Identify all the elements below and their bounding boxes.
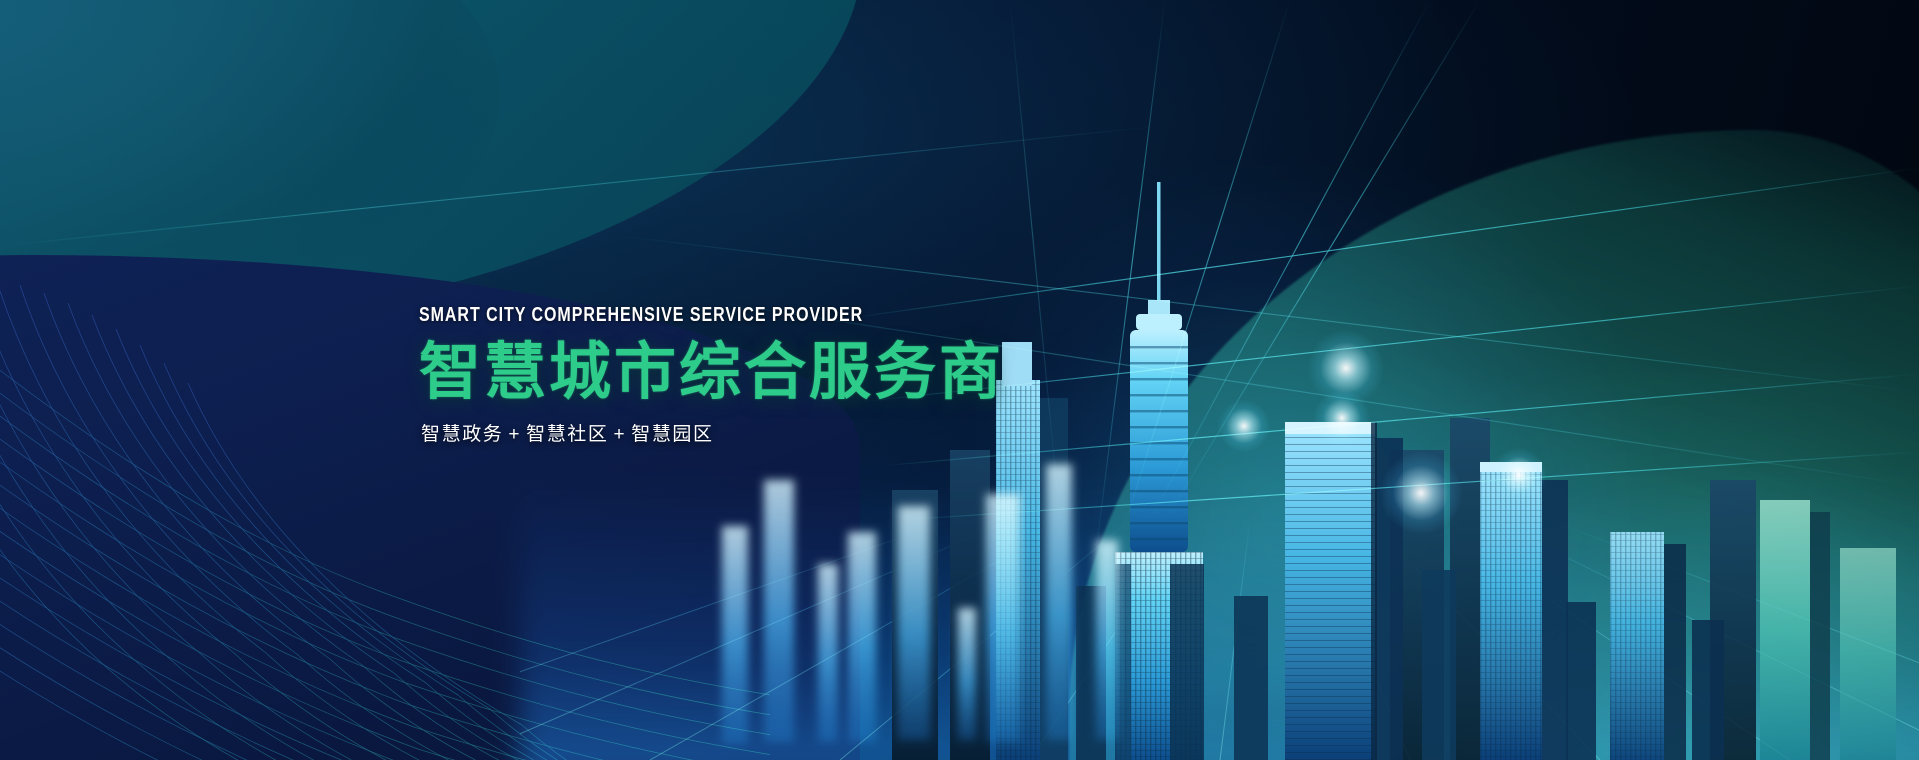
lens-flare-tower-mid — [1314, 390, 1370, 446]
smart-city-hero-banner: SMART CITY COMPREHENSIVE SERVICE PROVIDE… — [0, 0, 1919, 760]
lens-flare-left-tower — [1218, 400, 1270, 452]
wire-mesh-decoration — [0, 215, 770, 760]
lens-flare-right-block — [1380, 452, 1462, 534]
foreground-blurred-buildings — [700, 420, 1400, 760]
page-title: 智慧城市综合服务商 — [419, 340, 1179, 405]
lens-flare-tower-top — [1308, 330, 1384, 406]
hero-eyebrow: SMART CITY COMPREHENSIVE SERVICE PROVIDE… — [419, 304, 1027, 326]
ground-glow — [520, 480, 1919, 760]
city-skyline-graphic — [830, 150, 1919, 760]
tagline-part-government: 智慧政务 — [421, 424, 503, 445]
hero-tagline: 智慧政务+智慧社区+智慧园区 — [421, 419, 1179, 446]
teal-swoosh-glow — [0, 0, 500, 310]
tagline-part-community: 智慧社区 — [526, 424, 608, 445]
perspective-grid-floor — [520, 520, 1919, 760]
lens-flare-far-right — [1492, 448, 1546, 502]
hero-text-block: SMART CITY COMPREHENSIVE SERVICE PROVIDE… — [419, 304, 1179, 446]
green-sweep-overlay — [1069, 130, 1919, 760]
tagline-separator-one: + — [508, 424, 521, 445]
tagline-part-park: 智慧园区 — [631, 424, 713, 445]
green-sweep-glow — [1299, 370, 1919, 760]
tagline-separator-two: + — [614, 424, 627, 445]
